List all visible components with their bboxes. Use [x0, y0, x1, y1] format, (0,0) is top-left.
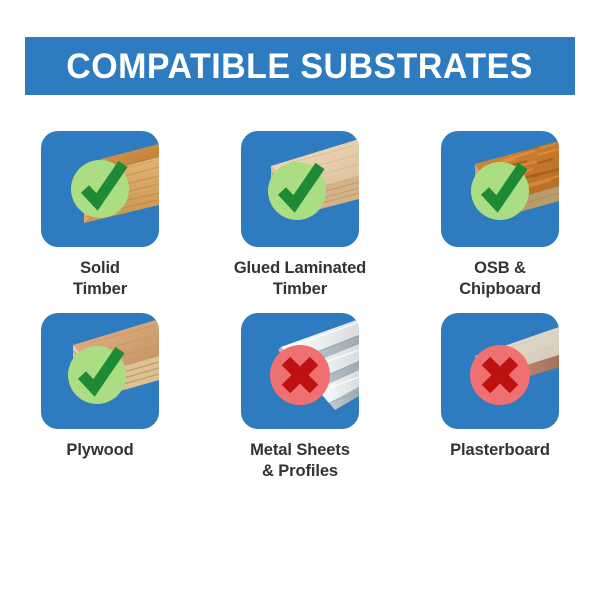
- label-line-2: Timber: [234, 279, 366, 300]
- glulam-panel-icon: [241, 131, 359, 247]
- substrate-item-plywood[interactable]: Plywood: [0, 300, 200, 482]
- label-line-1: Solid: [80, 259, 120, 277]
- glued-laminated-timber-tile: [241, 131, 359, 247]
- infographic-root: COMPATIBLE SUBSTRATES: [0, 0, 600, 600]
- substrate-label-metal-sheets-profiles: Metal Sheets & Profiles: [250, 440, 350, 482]
- label-line-2: Chipboard: [459, 279, 541, 300]
- osb-board-icon: [441, 131, 559, 247]
- corrugated-metal-sheet-icon: [241, 313, 359, 429]
- solid-timber-beam-icon: [41, 131, 159, 247]
- label-line-1: OSB &: [474, 259, 526, 277]
- substrate-label-plywood: Plywood: [66, 440, 133, 461]
- page-title-banner: COMPATIBLE SUBSTRATES: [25, 37, 575, 95]
- substrate-label-osb-chipboard: OSB & Chipboard: [459, 258, 541, 300]
- osb-chipboard-tile: [441, 131, 559, 247]
- substrate-label-solid-timber: Solid Timber: [73, 258, 127, 300]
- plywood-tile: [41, 313, 159, 429]
- substrate-item-metal-sheets-profiles[interactable]: Metal Sheets & Profiles: [200, 300, 400, 482]
- label-line-1: Plywood: [66, 441, 133, 459]
- substrate-label-plasterboard: Plasterboard: [450, 440, 550, 461]
- metal-sheets-tile: [241, 313, 359, 429]
- solid-timber-tile: [41, 131, 159, 247]
- label-line-1: Metal Sheets: [250, 441, 350, 459]
- substrate-label-glued-laminated-timber: Glued Laminated Timber: [234, 258, 366, 300]
- substrate-row-2: Plywood: [0, 300, 600, 482]
- substrate-item-plasterboard[interactable]: Plasterboard: [400, 300, 600, 482]
- plywood-panel-icon: [41, 313, 159, 429]
- label-line-2: & Profiles: [250, 461, 350, 482]
- page-title: COMPATIBLE SUBSTRATES: [67, 49, 534, 84]
- substrate-row-1: Solid Timber: [0, 118, 600, 300]
- substrate-item-solid-timber[interactable]: Solid Timber: [0, 118, 200, 300]
- label-line-1: Glued Laminated: [234, 259, 366, 277]
- label-line-1: Plasterboard: [450, 441, 550, 459]
- label-line-2: Timber: [73, 279, 127, 300]
- plasterboard-panel-icon: [441, 313, 559, 429]
- plasterboard-tile: [441, 313, 559, 429]
- substrate-item-osb-chipboard[interactable]: OSB & Chipboard: [400, 118, 600, 300]
- substrate-item-glued-laminated-timber[interactable]: Glued Laminated Timber: [200, 118, 400, 300]
- substrate-grid: Solid Timber: [0, 118, 600, 482]
